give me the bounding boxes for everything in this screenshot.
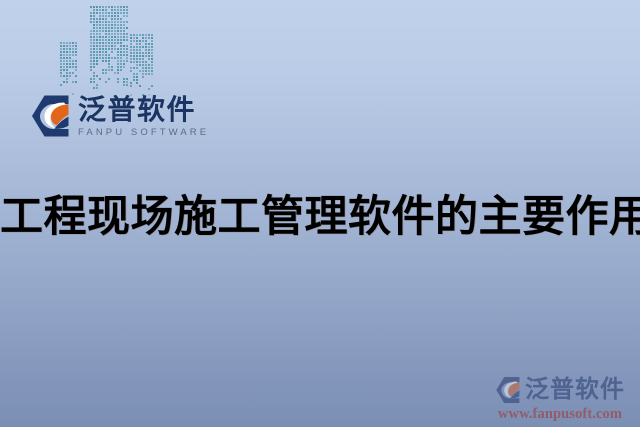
page-title: 工程现场施工管理软件的主要作用 bbox=[0, 187, 640, 247]
slide-canvas: 泛普软件 FANPU SOFTWARE 工程现场施工管理软件的主要作用 泛普软件… bbox=[0, 0, 640, 427]
brand-lockup: 泛普软件 FANPU SOFTWARE bbox=[30, 94, 209, 138]
brand-wordmark: 泛普软件 FANPU SOFTWARE bbox=[78, 95, 209, 137]
watermark-url: www.fanpusoft.com bbox=[498, 407, 622, 422]
watermark: 泛普软件 www.fanpusoft.com bbox=[488, 376, 632, 422]
fanpu-hexagon-logo-icon bbox=[495, 376, 521, 404]
fanpu-hexagon-logo-icon bbox=[30, 94, 71, 138]
brand-name-en: FANPU SOFTWARE bbox=[78, 128, 209, 138]
watermark-brand-name: 泛普软件 bbox=[525, 378, 625, 402]
watermark-logo-row: 泛普软件 bbox=[495, 376, 625, 404]
brand-name-cn: 泛普软件 bbox=[78, 96, 209, 125]
pixel-skyline-graphic bbox=[58, 4, 154, 96]
